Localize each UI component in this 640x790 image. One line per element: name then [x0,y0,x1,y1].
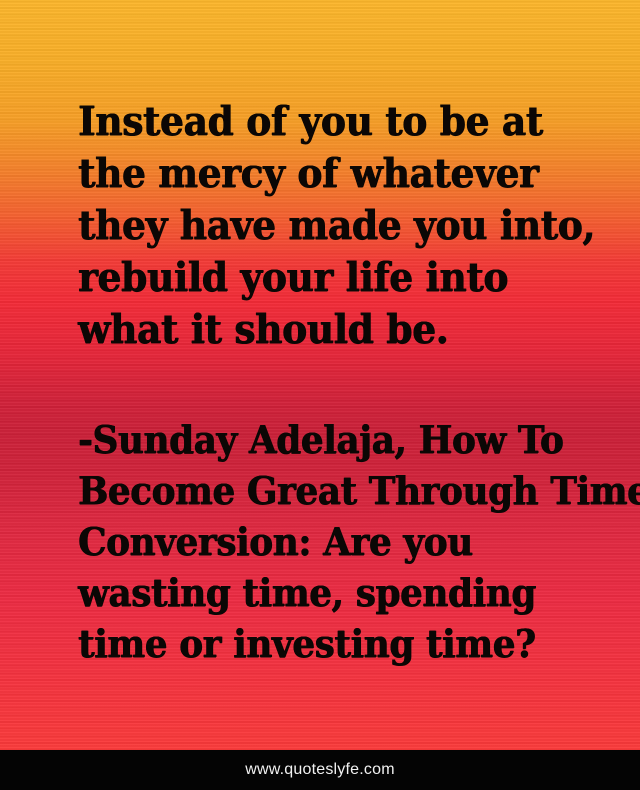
quote-text-block: Instead of you to be at the mercy of wha… [78,96,580,356]
quote-line: the mercy of whatever [78,148,550,200]
quote-line: Instead of you to be at [78,96,550,148]
attribution-line: Become Great Through Time [78,465,550,516]
attribution-line: -Sunday Adelaja, How To [78,414,550,465]
quote-card: Instead of you to be at the mercy of wha… [0,0,640,790]
attribution-line: Conversion: Are you [78,516,550,567]
quote-line: they have made you into, [78,200,550,252]
attribution-block: -Sunday Adelaja, How To Become Great Thr… [78,414,580,669]
attribution-line: time or investing time? [78,618,550,669]
website-url: www.quoteslyfe.com [245,761,394,779]
quote-line: rebuild your life into [78,252,550,304]
quote-content: Instead of you to be at the mercy of wha… [0,0,640,750]
attribution-line: wasting time, spending [78,567,550,618]
quote-line: what it should be. [78,304,550,356]
footer-bar: www.quoteslyfe.com [0,750,640,790]
